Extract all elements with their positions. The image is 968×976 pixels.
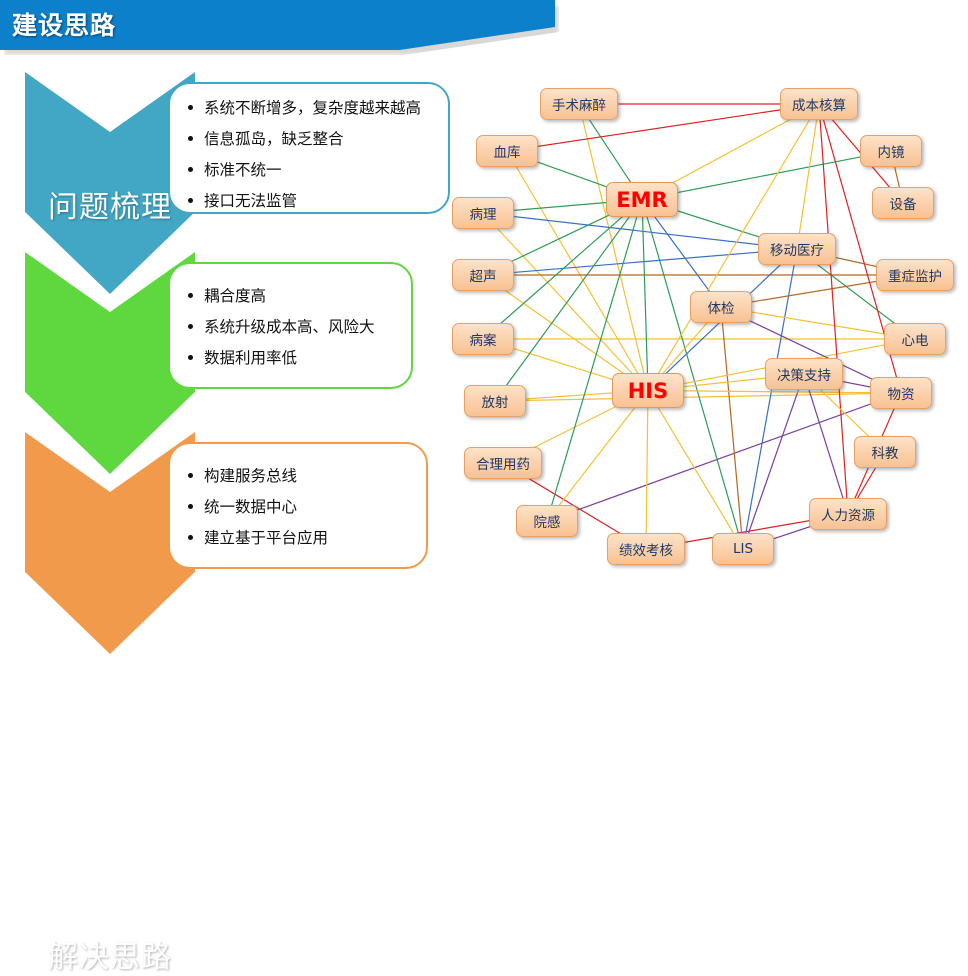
network-edge [579,104,648,391]
network-node-his[interactable]: HIS [612,373,684,408]
network-node-label: 设备 [890,193,917,213]
textbox-result: 耦合度高 系统升级成本高、风险大 数据利用率低 [168,262,413,389]
bullet-dot-icon [188,105,193,110]
bullet-dot-icon [188,324,193,329]
network-edge [819,104,848,514]
network-node-label: 物资 [888,383,915,403]
network-node-zhongzheng[interactable]: 重症监护 [876,259,954,291]
network-node-heliyongyao[interactable]: 合理用药 [464,447,542,479]
network-node-bingli[interactable]: 病理 [452,197,514,229]
bullet-list-solution: 构建服务总线 统一数据中心 建立基于平台应用 [186,466,412,549]
network-node-label: 超声 [470,265,497,285]
network-node-label: HIS [628,379,669,403]
network-node-xueku[interactable]: 血库 [476,135,538,167]
network-node-label: 成本核算 [792,94,846,114]
bullet-text: 构建服务总线 [204,467,297,485]
chevron-label: 解决思路 [25,932,195,976]
bullet-text: 系统不断增多，复杂度越来越高 [204,99,421,117]
network-node-xindian[interactable]: 心电 [884,323,946,355]
bullet-text: 系统升级成本高、风险大 [204,318,375,336]
bullet-text: 信息孤岛，缺乏整合 [204,130,344,148]
list-item: 系统不断增多，复杂度越来越高 [186,98,434,119]
network-node-juece[interactable]: 决策支持 [765,358,843,390]
bullet-dot-icon [188,136,193,141]
network-node-label: 移动医疗 [770,239,824,259]
network-node-neijing[interactable]: 内镜 [860,135,922,167]
list-item: 系统升级成本高、风险大 [186,317,397,338]
bullet-text: 标准不统一 [204,161,282,179]
bullet-dot-icon [188,293,193,298]
network-node-bingan[interactable]: 病案 [452,323,514,355]
network-node-label: EMR [616,188,667,212]
bullet-dot-icon [188,355,193,360]
list-item: 统一数据中心 [186,497,412,518]
bullet-dot-icon [188,198,193,203]
bullet-text: 耦合度高 [204,287,266,305]
network-node-kejiao[interactable]: 科教 [854,436,916,468]
list-item: 信息孤岛，缺乏整合 [186,129,434,150]
network-edge [547,391,648,522]
network-node-label: 病案 [470,329,497,349]
network-node-chaosheng[interactable]: 超声 [452,259,514,291]
network-node-chengben[interactable]: 成本核算 [780,88,858,120]
network-node-jixiao[interactable]: 绩效考核 [607,533,685,565]
page-title: 建设思路 [12,6,116,42]
bullet-list-result: 耦合度高 系统升级成本高、风险大 数据利用率低 [186,286,397,369]
bullet-list-problem: 系统不断增多，复杂度越来越高 信息孤岛，缺乏整合 标准不统一 接口无法监管 [186,98,434,212]
network-node-label: 科教 [872,442,899,462]
network-node-yuangan[interactable]: 院感 [516,505,578,537]
network-node-label: 体检 [708,297,735,317]
network-node-yidong[interactable]: 移动医疗 [758,233,836,265]
network-node-label: 心电 [902,329,929,349]
system-network-diagram: 手术麻醉成本核算血库内镜病理设备EMR移动医疗超声重症监护体检病案心电决策支持H… [440,55,968,615]
network-edge [648,391,901,394]
network-node-label: 合理用药 [476,453,530,473]
network-node-fangshe[interactable]: 放射 [464,385,526,417]
network-edge [483,213,648,391]
bullet-text: 数据利用率低 [204,349,297,367]
network-node-lis[interactable]: LIS [712,533,774,565]
network-node-label: LIS [733,541,753,557]
network-node-renli[interactable]: 人力资源 [809,498,887,530]
network-node-tijian[interactable]: 体检 [690,291,752,323]
network-node-label: 血库 [494,141,521,161]
textbox-problem: 系统不断增多，复杂度越来越高 信息孤岛，缺乏整合 标准不统一 接口无法监管 [168,82,450,214]
network-node-label: 院感 [534,511,561,531]
network-node-emr[interactable]: EMR [606,182,678,217]
list-item: 耦合度高 [186,286,397,307]
network-node-label: 人力资源 [821,504,875,524]
network-edge [642,200,648,391]
network-node-wuzi[interactable]: 物资 [870,377,932,409]
list-item: 数据利用率低 [186,348,397,369]
bullet-dot-icon [188,535,193,540]
network-node-label: 病理 [470,203,497,223]
network-edge [646,391,648,550]
network-edge [797,104,819,249]
list-item: 标准不统一 [186,160,434,181]
network-edge [648,391,743,550]
bullet-text: 统一数据中心 [204,498,297,516]
list-item: 接口无法监管 [186,191,434,212]
bullet-dot-icon [188,167,193,172]
list-item: 构建服务总线 [186,466,412,487]
network-node-label: 决策支持 [777,364,831,384]
network-node-label: 绩效考核 [619,539,673,559]
list-item: 建立基于平台应用 [186,528,412,549]
bullet-dot-icon [188,504,193,509]
network-node-shoushu[interactable]: 手术麻醉 [540,88,618,120]
network-node-label: 内镜 [878,141,905,161]
bullet-text: 建立基于平台应用 [204,529,328,547]
network-node-label: 重症监护 [888,265,942,285]
bullet-dot-icon [188,473,193,478]
textbox-solution: 构建服务总线 统一数据中心 建立基于平台应用 [168,442,428,569]
network-node-shebei[interactable]: 设备 [872,187,934,219]
network-edge [483,213,797,249]
network-node-label: 放射 [482,391,509,411]
network-edge [547,200,642,522]
header-banner: 建设思路 [0,0,555,50]
network-node-label: 手术麻醉 [552,94,606,114]
bullet-text: 接口无法监管 [204,192,297,210]
